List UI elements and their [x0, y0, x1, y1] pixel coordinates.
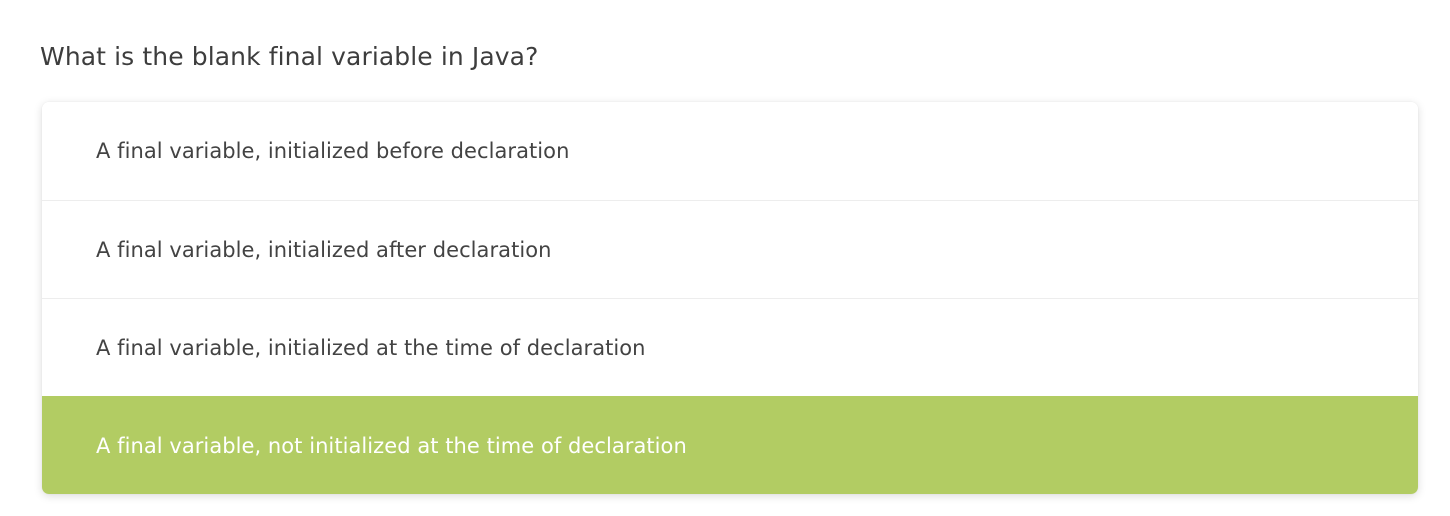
quiz-container: What is the blank final variable in Java… [0, 0, 1450, 516]
answer-option-2-label: A final variable, initialized after decl… [96, 236, 552, 264]
answer-option-4[interactable]: A final variable, not initialized at the… [42, 396, 1418, 494]
answer-option-3-label: A final variable, initialized at the tim… [96, 334, 646, 362]
answer-option-1[interactable]: A final variable, initialized before dec… [42, 102, 1418, 200]
answer-option-4-label: A final variable, not initialized at the… [96, 432, 687, 460]
question-title: What is the blank final variable in Java… [40, 40, 538, 74]
answer-option-2[interactable]: A final variable, initialized after decl… [42, 200, 1418, 298]
answer-option-1-label: A final variable, initialized before dec… [96, 137, 569, 165]
answer-options-card: A final variable, initialized before dec… [42, 102, 1418, 494]
answer-option-3[interactable]: A final variable, initialized at the tim… [42, 298, 1418, 396]
